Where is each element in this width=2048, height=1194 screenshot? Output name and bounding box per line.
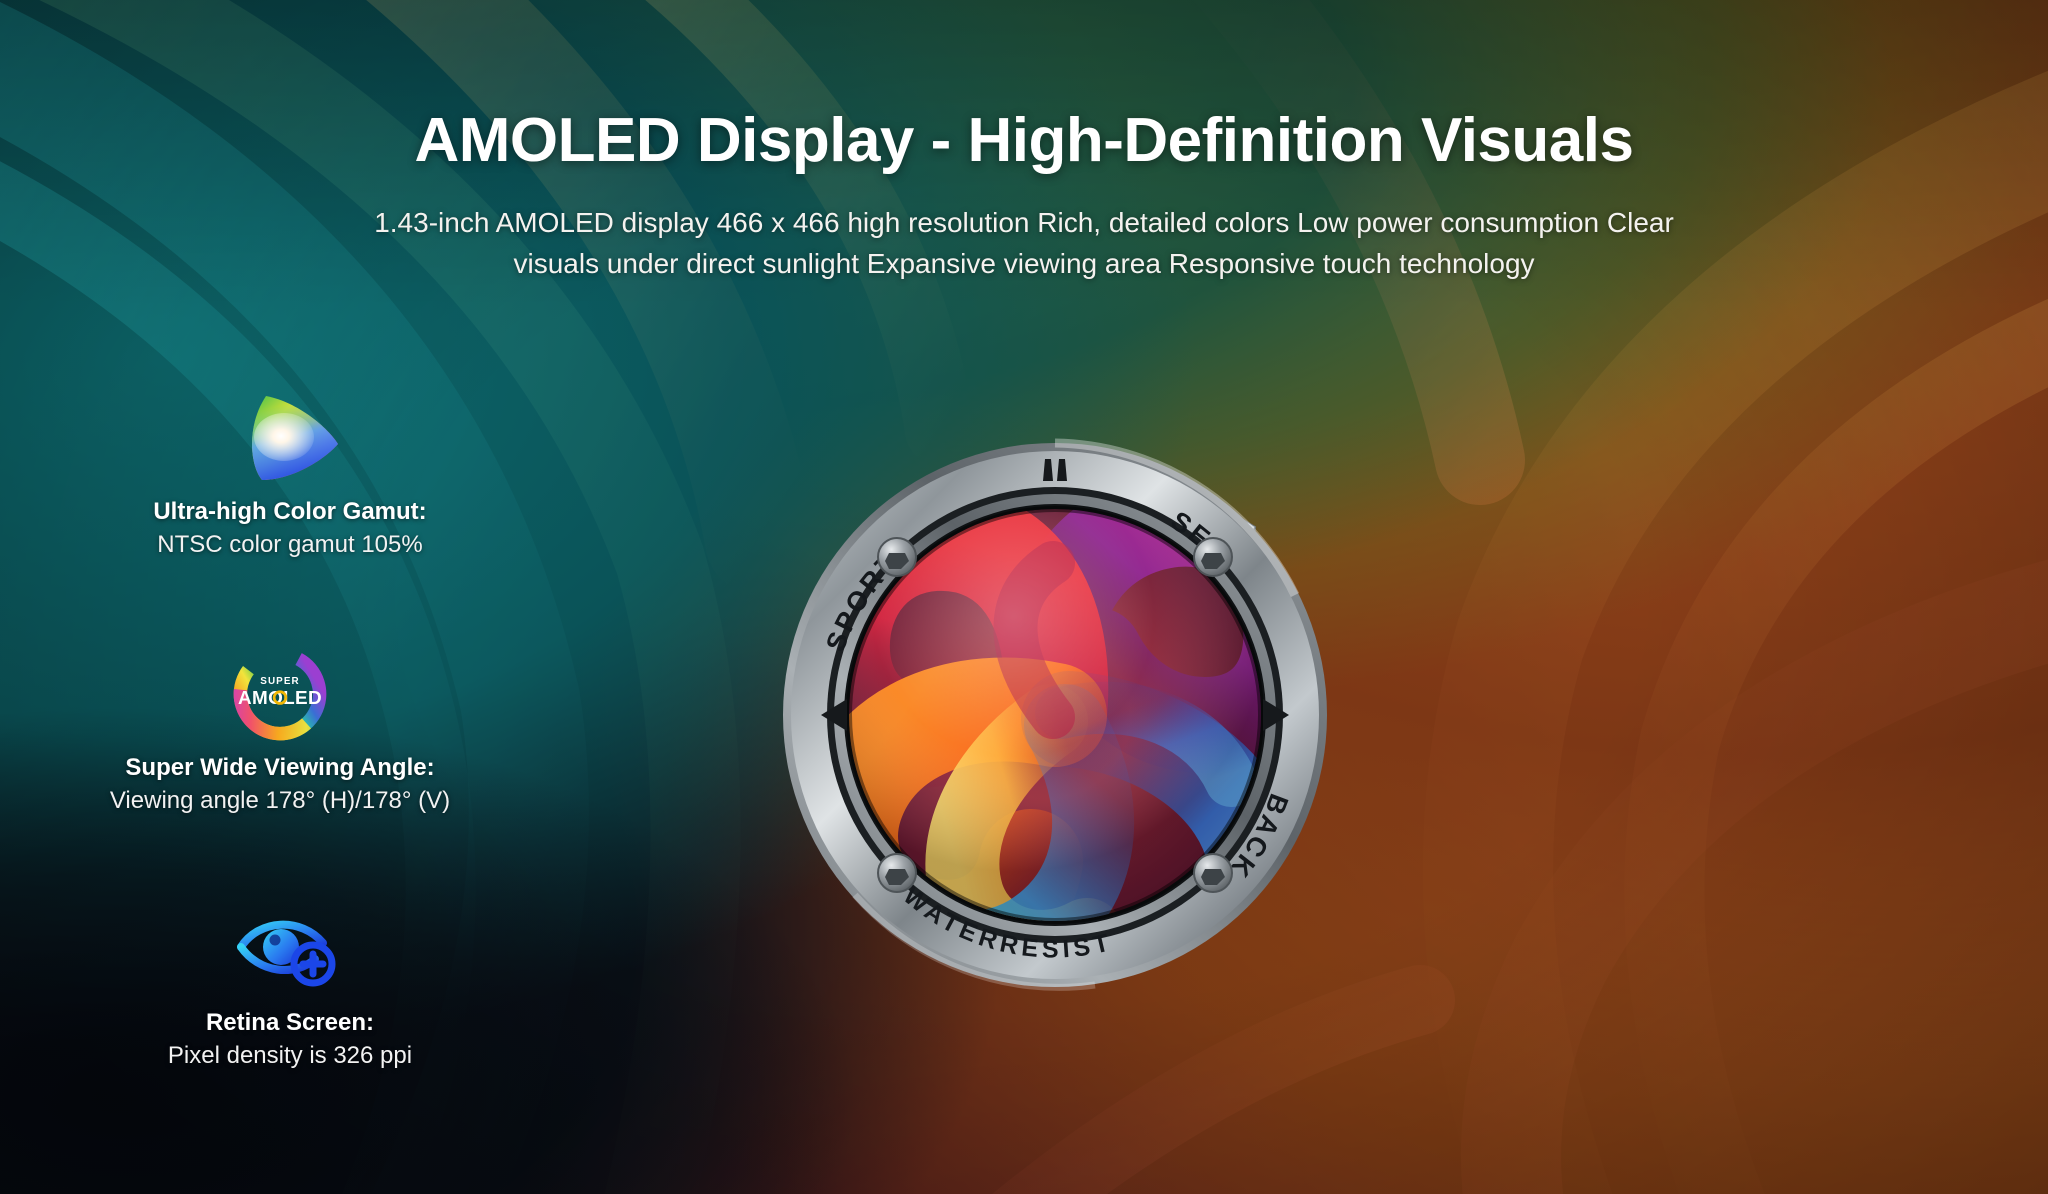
feature-description: Viewing angle 178° (H)/178° (V): [60, 785, 500, 817]
cie-gamut-shape: [236, 392, 344, 484]
feature-title: Ultra-high Color Gamut:: [80, 496, 500, 527]
page-title: AMOLED Display - High-Definition Visuals: [0, 108, 2048, 173]
feature-description: Pixel density is 326 ppi: [80, 1040, 500, 1072]
feature-title: Retina Screen:: [80, 1007, 500, 1038]
color-gamut-triangle-icon: [80, 390, 500, 486]
screw-bottom-left: [878, 854, 916, 892]
smartwatch-svg: SPORT SEL BACK WATERRESIST: [735, 395, 1375, 1035]
banner-header: AMOLED Display - High-Definition Visuals…: [0, 108, 2048, 284]
product-banner: AMOLED Display - High-Definition Visuals…: [0, 0, 2048, 1194]
super-amoled-badge-icon: SUPER AMOLED: [60, 646, 500, 742]
eye-magnify-shape: [235, 907, 345, 991]
screw-bottom-right: [1194, 854, 1232, 892]
badge-super-text: SUPER: [260, 676, 299, 687]
feature-item-color-gamut: Ultra-high Color Gamut: NTSC color gamut…: [80, 390, 500, 562]
feature-list: Ultra-high Color Gamut: NTSC color gamut…: [70, 390, 500, 1073]
feature-description: NTSC color gamut 105%: [80, 529, 500, 561]
screw-top-left: [878, 538, 916, 576]
super-amoled-ring: SUPER AMOLED: [226, 640, 334, 748]
smartwatch-product-image: SPORT SEL BACK WATERRESIST: [735, 395, 1375, 1035]
feature-item-viewing-angle: SUPER AMOLED Super Wide Viewing Angle: V…: [60, 646, 500, 818]
page-subtitle: 1.43-inch AMOLED display 466 x 466 high …: [334, 203, 1714, 284]
screw-top-right: [1194, 538, 1232, 576]
eye-plus-icon: [80, 901, 500, 997]
feature-item-retina: Retina Screen: Pixel density is 326 ppi: [80, 901, 500, 1073]
feature-title: Super Wide Viewing Angle:: [60, 752, 500, 783]
